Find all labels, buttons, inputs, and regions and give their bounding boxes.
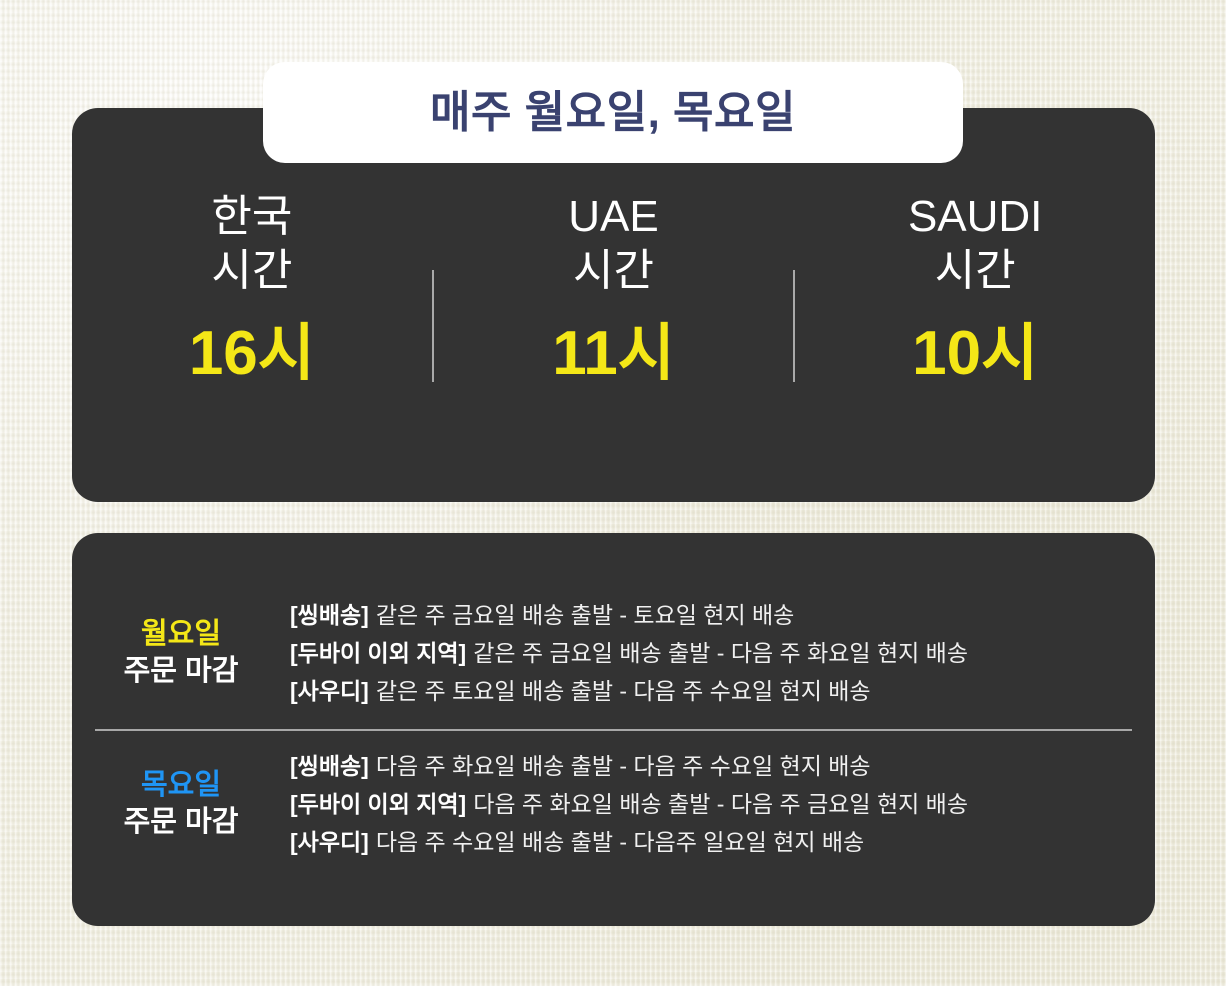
- schedule-line-tag: [씽배송]: [290, 753, 369, 779]
- timezone-saudi: SAUDI 시간 10시: [795, 190, 1155, 385]
- timezone-korea-hour: 16시: [189, 323, 315, 385]
- schedule-line-text: 다음 주 화요일 배송 출발 - 다음 주 금요일 현지 배송: [473, 791, 968, 817]
- schedule-row-monday-lines: [씽배송]같은 주 금요일 배송 출발 - 토요일 현지 배송 [두바이 이외 …: [290, 596, 1155, 711]
- schedule-line-text: 다음 주 수요일 배송 출발 - 다음주 일요일 현지 배송: [376, 829, 864, 855]
- schedule-line: [씽배송]다음 주 화요일 배송 출발 - 다음 주 수요일 현지 배송: [290, 747, 1137, 785]
- schedule-row-monday-label: 월요일 주문 마감: [72, 617, 290, 689]
- infographic-frame: 매주 월요일, 목요일 한국 시간 16시 UAE 시간 11시 SAUDI 시…: [0, 0, 1226, 986]
- schedule-row-monday: 월요일 주문 마감 [씽배송]같은 주 금요일 배송 출발 - 토요일 현지 배…: [72, 580, 1155, 729]
- timezone-uae: UAE 시간 11시: [434, 190, 794, 385]
- schedule-line-tag: [두바이 이외 지역]: [290, 791, 466, 817]
- timezone-uae-name: UAE 시간: [568, 190, 658, 297]
- cutoff-schedule: 월요일 주문 마감 [씽배송]같은 주 금요일 배송 출발 - 토요일 현지 배…: [72, 533, 1155, 926]
- schedule-row-thursday-lines: [씽배송]다음 주 화요일 배송 출발 - 다음 주 수요일 현지 배송 [두바…: [290, 747, 1155, 862]
- schedule-line: [사우디]같은 주 토요일 배송 출발 - 다음 주 수요일 현지 배송: [290, 672, 1137, 710]
- schedule-line-tag: [사우디]: [290, 678, 369, 704]
- timezone-row: 한국 시간 16시 UAE 시간 11시 SAUDI 시간 10시: [72, 190, 1155, 460]
- schedule-row-thursday-label: 목요일 주문 마감: [72, 768, 290, 840]
- schedule-line: [씽배송]같은 주 금요일 배송 출발 - 토요일 현지 배송: [290, 596, 1137, 634]
- timezone-saudi-hour: 10시: [912, 323, 1038, 385]
- timezone-saudi-name: SAUDI 시간: [908, 190, 1042, 297]
- timezone-korea-name: 한국 시간: [211, 190, 292, 297]
- schedule-line-text: 같은 주 토요일 배송 출발 - 다음 주 수요일 현지 배송: [376, 678, 871, 704]
- schedule-row-monday-day: 월요일: [72, 617, 290, 652]
- schedule-line-text: 다음 주 화요일 배송 출발 - 다음 주 수요일 현지 배송: [376, 753, 871, 779]
- schedule-line: [두바이 이외 지역]같은 주 금요일 배송 출발 - 다음 주 화요일 현지 …: [290, 634, 1137, 672]
- schedule-line-tag: [사우디]: [290, 829, 369, 855]
- schedule-row-monday-sub: 주문 마감: [72, 654, 290, 689]
- schedule-row-thursday: 목요일 주문 마감 [씽배송]다음 주 화요일 배송 출발 - 다음 주 수요일…: [72, 731, 1155, 880]
- title-pill: 매주 월요일, 목요일: [263, 62, 963, 163]
- schedule-row-thursday-day: 목요일: [72, 768, 290, 803]
- schedule-line-tag: [두바이 이외 지역]: [290, 640, 466, 666]
- schedule-line-text: 같은 주 금요일 배송 출발 - 토요일 현지 배송: [376, 602, 795, 628]
- timezone-uae-hour: 11시: [552, 323, 675, 385]
- schedule-line-tag: [씽배송]: [290, 602, 369, 628]
- schedule-line-text: 같은 주 금요일 배송 출발 - 다음 주 화요일 현지 배송: [473, 640, 968, 666]
- timezone-korea: 한국 시간 16시: [72, 190, 432, 385]
- page-title: 매주 월요일, 목요일: [430, 91, 796, 135]
- schedule-row-thursday-sub: 주문 마감: [72, 805, 290, 840]
- schedule-line: [두바이 이외 지역]다음 주 화요일 배송 출발 - 다음 주 금요일 현지 …: [290, 785, 1137, 823]
- schedule-line: [사우디]다음 주 수요일 배송 출발 - 다음주 일요일 현지 배송: [290, 823, 1137, 861]
